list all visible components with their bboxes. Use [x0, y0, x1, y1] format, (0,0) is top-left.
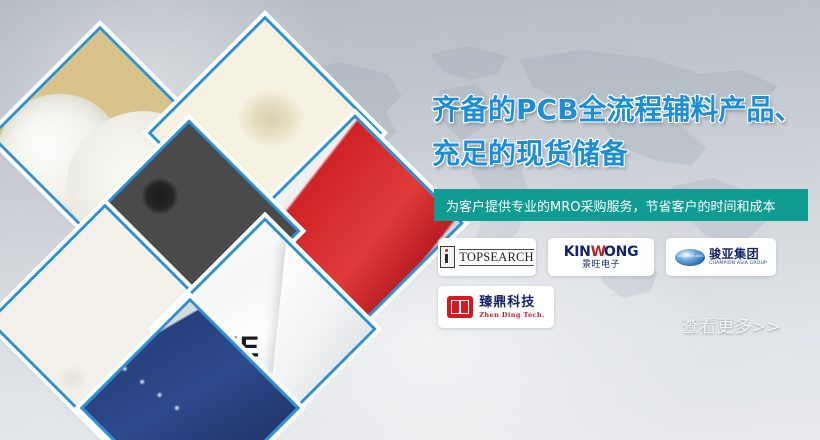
kinwong-word-part-2: ONG [604, 244, 638, 260]
champion-asia-english-name: CHAMPION ASIA GROUP [709, 262, 767, 267]
promo-banner: 齐备的PCB全流程辅料产品、 充足的现货储备 为客户提供专业的MRO采购服务，节… [0, 0, 820, 440]
view-more-link[interactable]: 查看更多>> [682, 312, 782, 337]
kinwong-word-part-1: KIN [564, 244, 591, 260]
zhen-ding-chinese-name: 臻鼎科技 [479, 296, 544, 309]
client-logo-zhen-ding[interactable]: 臻鼎科技 Zhen Ding Tech. [438, 286, 554, 328]
client-logo-row-1: TOPSEARCH KINWONG 景旺电子 骏亚集团 CHAMPION ASI [438, 238, 818, 276]
zhen-ding-text: 臻鼎科技 Zhen Ding Tech. [479, 296, 544, 319]
kinwong-lockup: KINWONG 景旺电子 [564, 245, 639, 270]
client-logo-kinwong[interactable]: KINWONG 景旺电子 [548, 238, 654, 276]
headline-line-1: 齐备的PCB全流程辅料产品、 [432, 88, 820, 132]
topsearch-frame-icon [440, 246, 455, 268]
subtitle-bar: 为客户提供专业的MRO采购服务，节省客户的时间和成本 [434, 189, 808, 221]
product-collage [0, 0, 430, 440]
champion-asia-chinese-name: 骏亚集团 [709, 248, 767, 260]
kinwong-chinese-name: 景旺电子 [564, 261, 639, 270]
zhending-square-icon [447, 296, 473, 318]
topsearch-lockup: TOPSEARCH [440, 246, 534, 268]
client-logo-topsearch[interactable]: TOPSEARCH [438, 238, 536, 276]
topsearch-wordmark: TOPSEARCH [459, 249, 534, 266]
subtitle-text: 为客户提供专业的MRO采购服务，节省客户的时间和成本 [434, 196, 775, 215]
headline-line-2: 充足的现货储备 [432, 132, 820, 176]
client-logo-champion-asia[interactable]: 骏亚集团 CHAMPION ASIA GROUP [666, 238, 776, 276]
headline: 齐备的PCB全流程辅料产品、 充足的现货储备 [432, 88, 820, 176]
zhen-ding-english-name: Zhen Ding Tech. [479, 312, 544, 319]
globe-icon [675, 249, 705, 266]
kinwong-accent-letter: W [591, 244, 604, 260]
kinwong-wordmark: KINWONG [564, 245, 639, 259]
champion-asia-text: 骏亚集团 CHAMPION ASIA GROUP [709, 248, 767, 267]
champion-asia-lockup: 骏亚集团 CHAMPION ASIA GROUP [675, 248, 767, 267]
banner-copy: 齐备的PCB全流程辅料产品、 充足的现货储备 为客户提供专业的MRO采购服务，节… [430, 0, 820, 440]
zhen-ding-lockup: 臻鼎科技 Zhen Ding Tech. [447, 296, 544, 319]
